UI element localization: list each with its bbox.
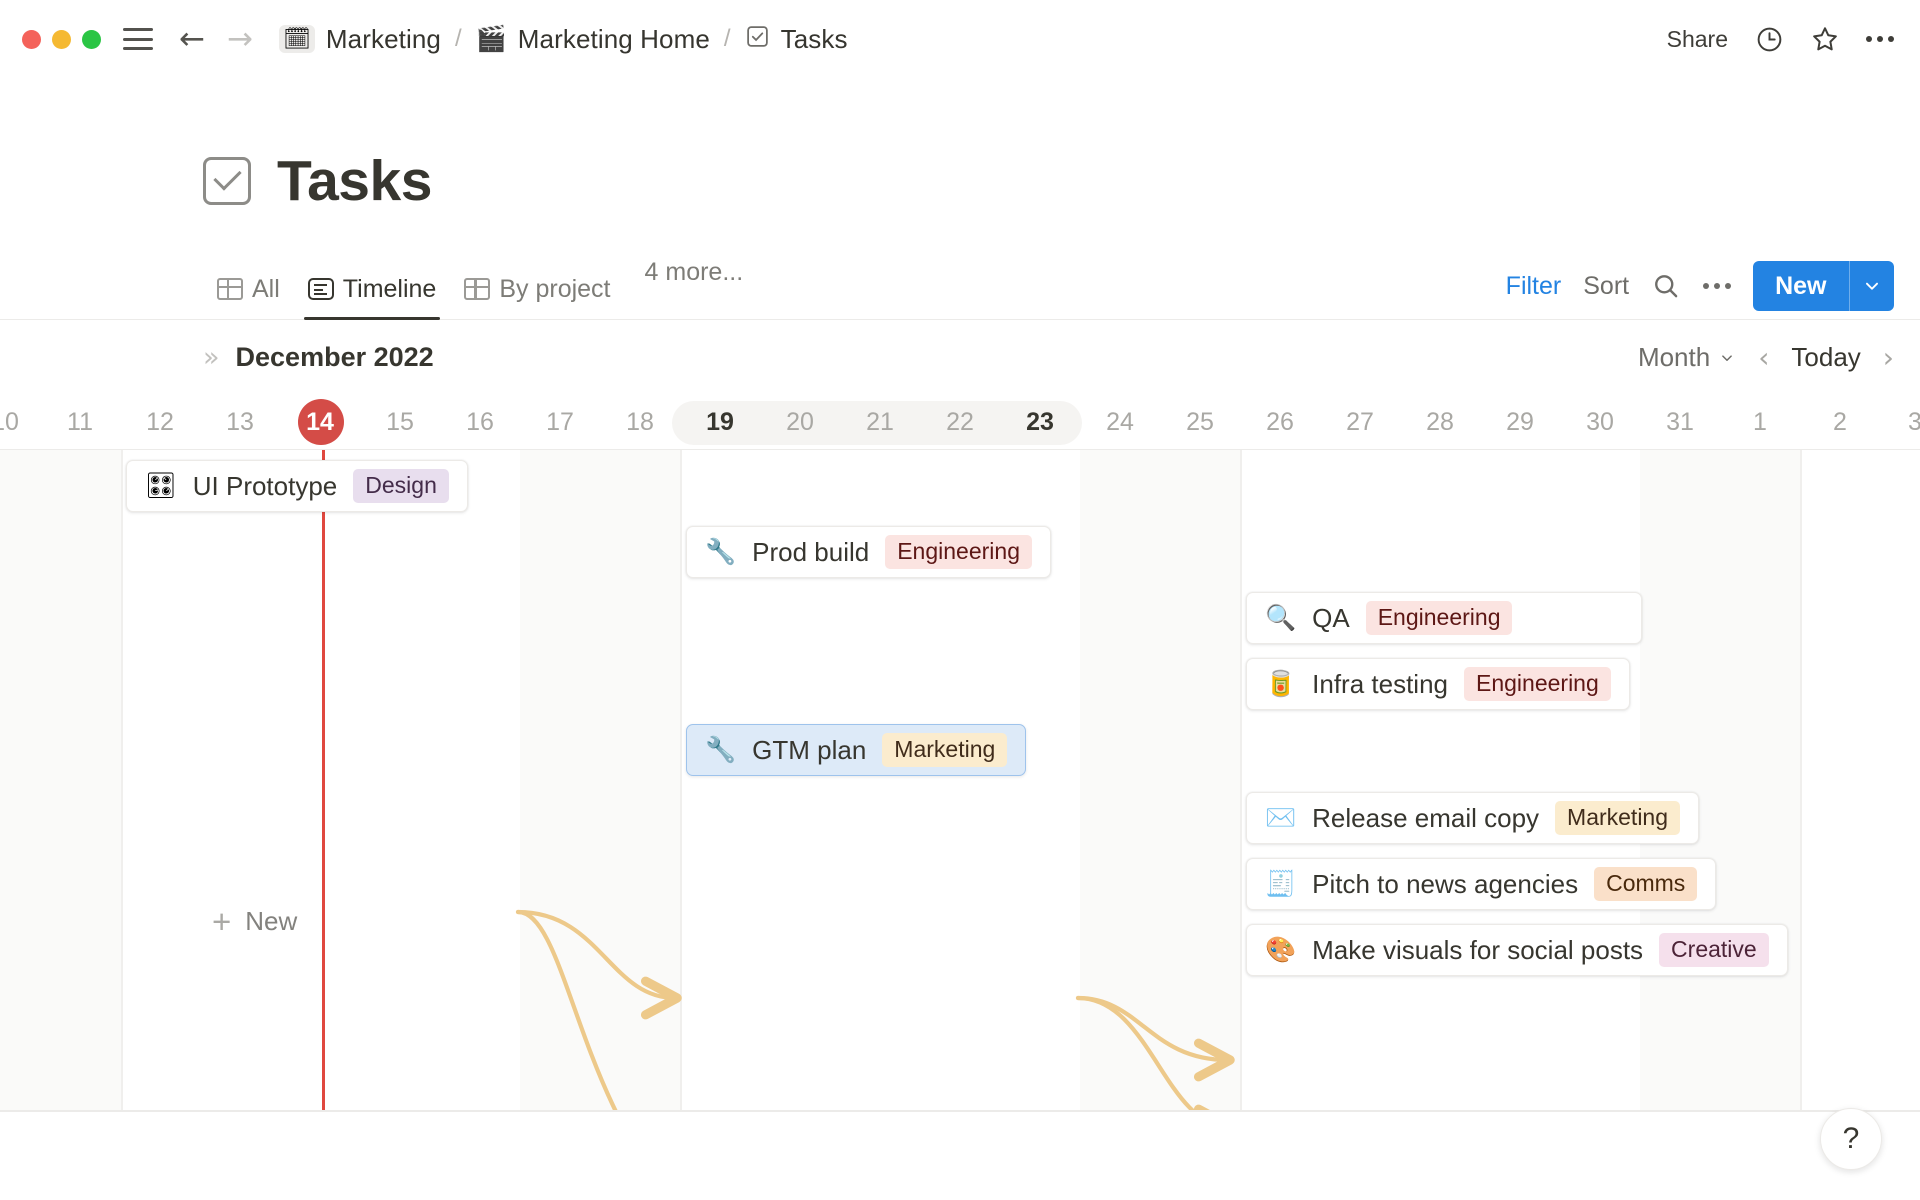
task-card-make-visuals-for-social-posts[interactable]: 🎨 Make visuals for social posts Creative — [1246, 924, 1788, 976]
task-tag: Creative — [1659, 933, 1769, 967]
magnifier-icon: 🔍 — [1265, 606, 1296, 631]
checkbox-icon — [203, 157, 251, 205]
ruler-day-28[interactable]: 28 — [1400, 394, 1480, 450]
canned-food-icon: 🥫 — [1265, 672, 1296, 697]
task-tag: Marketing — [1555, 801, 1680, 835]
task-tag: Marketing — [882, 733, 1007, 767]
palette-icon: 🎨 — [1265, 938, 1296, 963]
task-card-prod-build[interactable]: 🔧 Prod build Engineering — [686, 526, 1051, 578]
ruler-day-29[interactable]: 29 — [1480, 394, 1560, 450]
month-label: December 2022 — [236, 342, 434, 373]
breadcrumb-label: Marketing Home — [518, 24, 710, 55]
checkbox-icon — [745, 24, 770, 54]
table-icon — [217, 278, 243, 300]
tab-label: By project — [499, 275, 610, 304]
tab-label: All — [252, 275, 280, 304]
tab-timeline[interactable]: Timeline — [294, 252, 451, 320]
back-arrow-icon[interactable]: ← — [179, 24, 205, 55]
filter-button[interactable]: Filter — [1506, 272, 1562, 301]
today-vertical-line — [322, 450, 325, 1110]
task-title: Pitch to news agencies — [1312, 869, 1578, 900]
weekend-column-shade — [520, 450, 680, 1110]
maximize-window-button[interactable] — [82, 30, 101, 49]
notion-timeline-window: ← → 🗓 Marketing / 🎬 Marketing Home / Tas… — [0, 0, 1920, 1200]
new-button-label: New — [1753, 261, 1848, 311]
breadcrumb-item-tasks[interactable]: Tasks — [745, 24, 848, 55]
star-icon[interactable] — [1810, 24, 1840, 54]
search-icon[interactable] — [1651, 271, 1681, 301]
ruler-day-31[interactable]: 31 — [1640, 394, 1720, 450]
ruler-day-14[interactable]: 14 — [280, 394, 360, 450]
ruler-day-16[interactable]: 16 — [440, 394, 520, 450]
task-title: QA — [1312, 603, 1350, 634]
task-title: UI Prototype — [193, 471, 338, 502]
calendar-icon: 🗓 — [279, 25, 315, 53]
task-tag: Engineering — [1464, 667, 1611, 701]
timeline-canvas[interactable]: + New 🎛 UI Prototype Design 🔧 Prod build… — [0, 450, 1920, 1110]
task-title: Infra testing — [1312, 669, 1448, 700]
task-card-qa[interactable]: 🔍 QA Engineering — [1246, 592, 1642, 644]
ruler-day-18[interactable]: 18 — [600, 394, 680, 450]
breadcrumb-separator: / — [724, 25, 731, 53]
tab-label: Timeline — [343, 275, 437, 304]
ruler-day-30[interactable]: 30 — [1560, 394, 1640, 450]
clock-icon[interactable] — [1754, 24, 1784, 54]
ruler-day-3[interactable]: 3 — [1875, 394, 1920, 450]
task-tag: Design — [353, 469, 449, 503]
view-actions: Filter Sort New — [1506, 252, 1894, 320]
more-options-icon[interactable] — [1866, 36, 1894, 42]
ruler-day-2[interactable]: 2 — [1800, 394, 1880, 450]
new-task-label: New — [245, 906, 297, 937]
sort-button[interactable]: Sort — [1583, 272, 1629, 301]
ruler-day-19[interactable]: 19 — [680, 394, 760, 450]
help-button[interactable]: ? — [1820, 1108, 1882, 1170]
receipt-icon: 🧾 — [1265, 872, 1296, 897]
window-titlebar: ← → 🗓 Marketing / 🎬 Marketing Home / Tas… — [0, 0, 1920, 78]
more-options-icon[interactable] — [1703, 283, 1731, 289]
task-tag: Engineering — [885, 535, 1032, 569]
today-button: Today — [1791, 342, 1860, 373]
ruler-day-10[interactable]: 10 — [0, 394, 45, 450]
close-window-button[interactable] — [22, 30, 41, 49]
breadcrumb-item-marketing-home[interactable]: 🎬 Marketing Home — [476, 24, 710, 55]
ruler-day-1[interactable]: 1 — [1720, 394, 1800, 450]
timeline-month: » December 2022 — [203, 342, 434, 373]
ruler-day-21[interactable]: 21 — [840, 394, 920, 450]
ruler-day-11[interactable]: 11 — [40, 394, 120, 450]
ruler-day-12[interactable]: 12 — [120, 394, 200, 450]
timeline-header: » December 2022 Month ‹ Today › — [0, 330, 1920, 394]
more-views-button[interactable]: 4 more... — [625, 252, 760, 287]
timeline-icon — [308, 278, 334, 300]
traffic-lights — [22, 30, 101, 49]
table-icon — [464, 278, 490, 300]
view-toolbar: All Timeline By project 4 more... Filter… — [0, 252, 1920, 320]
ruler-day-13[interactable]: 13 — [200, 394, 280, 450]
ruler-day-15[interactable]: 15 — [360, 394, 440, 450]
grid-line — [121, 450, 123, 1110]
previous-period-button[interactable]: ‹ — [1758, 344, 1769, 372]
task-card-ui-prototype[interactable]: 🎛 UI Prototype Design — [126, 460, 468, 512]
ruler-day-20[interactable]: 20 — [760, 394, 840, 450]
task-card-release-email-copy[interactable]: ✉️ Release email copy Marketing — [1246, 792, 1699, 844]
grid-line — [680, 450, 682, 1110]
share-button[interactable]: Share — [1667, 26, 1728, 53]
ruler-day-25[interactable]: 25 — [1160, 394, 1240, 450]
plus-icon: + — [212, 905, 231, 938]
zoom-level-select[interactable]: Month — [1638, 342, 1736, 373]
breadcrumb-label: Tasks — [781, 24, 848, 55]
ruler-day-27[interactable]: 27 — [1320, 394, 1400, 450]
minimize-window-button[interactable] — [52, 30, 71, 49]
task-card-pitch-to-news-agencies[interactable]: 🧾 Pitch to news agencies Comms — [1246, 858, 1716, 910]
titlebar-actions: Share — [1667, 24, 1894, 54]
ruler-day-26[interactable]: 26 — [1240, 394, 1320, 450]
breadcrumb-separator: / — [455, 25, 462, 53]
page-title: Tasks — [203, 148, 432, 214]
task-tag: Engineering — [1366, 601, 1513, 635]
grid-line — [1800, 450, 1802, 1110]
double-chevron-right-icon[interactable]: » — [203, 344, 220, 371]
task-title: Prod build — [752, 537, 869, 568]
breadcrumb-item-marketing[interactable]: 🗓 Marketing — [279, 24, 441, 55]
date-ruler: 1011121314151617181920212223242526272829… — [0, 394, 1920, 450]
envelope-icon: ✉️ — [1265, 806, 1296, 831]
ruler-day-22[interactable]: 22 — [920, 394, 1000, 450]
view-tabs: All Timeline By project 4 more... — [203, 252, 759, 320]
forward-arrow-icon[interactable]: → — [227, 24, 253, 55]
zoom-level-label: Month — [1638, 342, 1710, 373]
canvas-bottom-border — [0, 1110, 1920, 1112]
task-card-infra-testing[interactable]: 🥫 Infra testing Engineering — [1246, 658, 1630, 710]
grid-line — [1240, 450, 1242, 1110]
tab-by-project[interactable]: By project — [450, 252, 624, 320]
new-task-row[interactable]: + New — [212, 905, 297, 938]
ruler-day-23[interactable]: 23 — [1000, 394, 1080, 450]
wrench-icon: 🔧 — [705, 540, 736, 565]
chevron-down-icon — [1718, 349, 1736, 367]
task-title: Make visuals for social posts — [1312, 935, 1643, 966]
next-period-button[interactable]: › — [1883, 344, 1894, 372]
clapperboard-icon: 🎬 — [476, 27, 507, 52]
weekend-column-shade — [1080, 450, 1240, 1110]
weekend-column-shade — [0, 450, 122, 1110]
tab-all[interactable]: All — [203, 252, 294, 320]
wrench-icon: 🔧 — [705, 738, 736, 763]
task-tag: Comms — [1594, 867, 1697, 901]
weekend-column-shade — [1640, 450, 1800, 1110]
timeline-controls: Month ‹ Today › — [1638, 342, 1894, 373]
grid-icon: 🎛 — [145, 474, 177, 499]
task-card-gtm-plan[interactable]: 🔧 GTM plan Marketing — [686, 724, 1026, 776]
page-title-text: Tasks — [277, 148, 432, 214]
ruler-day-24[interactable]: 24 — [1080, 394, 1160, 450]
new-button[interactable]: New — [1753, 261, 1894, 311]
breadcrumb-label: Marketing — [326, 24, 441, 55]
chevron-down-icon[interactable] — [1850, 261, 1894, 311]
task-title: Release email copy — [1312, 803, 1539, 834]
task-title: GTM plan — [752, 735, 866, 766]
hamburger-icon[interactable] — [123, 28, 153, 50]
ruler-day-17[interactable]: 17 — [520, 394, 600, 450]
